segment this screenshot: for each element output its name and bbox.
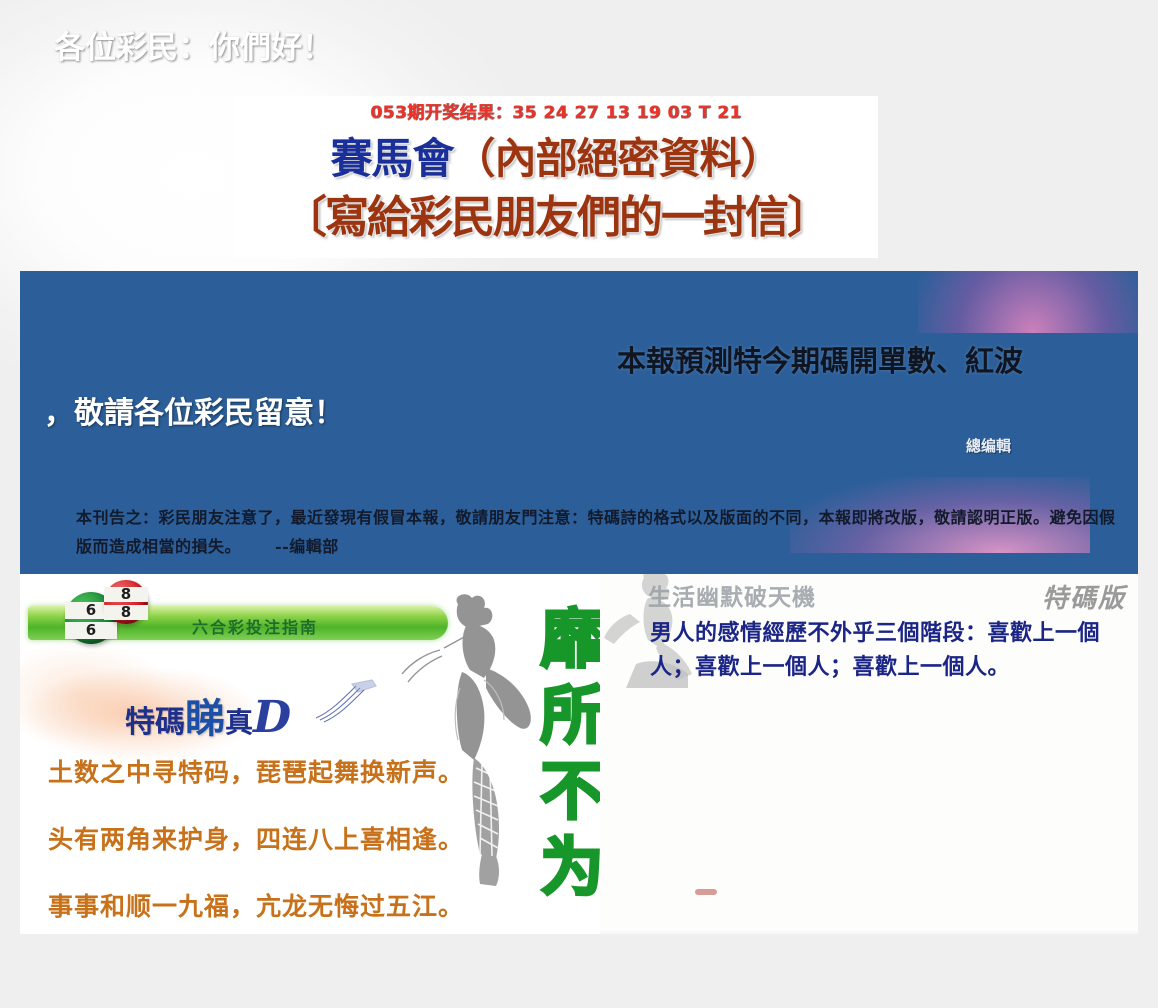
slogan-char-1: 靡 xyxy=(541,602,604,678)
brand-part-4: D xyxy=(253,692,291,743)
letter-forecast-line: 本報預測特今期碼開單數、紅波 xyxy=(617,338,1023,380)
lottery-result-strip: 053期开奖结果：35 24 27 13 19 03 T 21 xyxy=(234,96,878,124)
poem-line-2: 头有两角来护身，四连八上喜相逢。 xyxy=(48,820,464,856)
ball-band-bottom: 8 xyxy=(104,605,148,620)
masthead-line-2: 〔寫給彩民朋友們的一封信〕 xyxy=(234,188,878,248)
ink-smudge xyxy=(695,889,717,895)
guide-brand-title: 特碼睇真D xyxy=(125,686,291,744)
vertical-slogan: 靡 所 不 为 xyxy=(536,602,608,906)
masthead-banner: 賽馬會（內部絕密資料） 〔寫給彩民朋友們的一封信〕 xyxy=(234,124,878,258)
lottery-ball-red: 8 8 xyxy=(104,580,148,624)
letter-attention-line: ，敬請各位彩民留意！ xyxy=(44,388,344,432)
slogan-char-3: 不 xyxy=(541,754,604,830)
lottery-ball-green-number-bottom: 6 xyxy=(86,623,96,638)
lottery-ball-green-number-top: 6 xyxy=(86,603,96,618)
lottery-ball-red-number-top: 8 xyxy=(121,587,131,602)
slogan-char-4: 为 xyxy=(541,830,604,906)
humor-body-text: 男人的感情經歷不外乎三個階段：喜歡上一個人；喜歡上一個人；喜歡上一個人。 xyxy=(650,616,1100,684)
humor-panel: 生活幽默破天機 特碼版 男人的感情經歷不外乎三個階段：喜歡上一個人；喜歡上一個人… xyxy=(600,574,1138,934)
betting-guide-section: 六合彩投注指南 6 6 8 8 特碼睇真D xyxy=(20,574,600,934)
ball-band-bottom: 6 xyxy=(65,622,117,639)
brand-part-2: 睇 xyxy=(185,695,225,742)
masthead-line-1: 賽馬會（內部絕密資料） xyxy=(234,130,878,188)
guide-banner-label: 六合彩投注指南 xyxy=(192,614,318,638)
poem-line-1: 土数之中寻特码，琵琶起舞换新声。 xyxy=(48,753,464,789)
brand-part-1: 特碼 xyxy=(125,705,185,740)
slogan-char-2: 所 xyxy=(541,678,604,754)
letter-signature: 總编輯 xyxy=(966,435,1011,456)
panel-bottom-fade xyxy=(600,929,1138,934)
letter-notice-department: --编輯部 xyxy=(275,537,339,556)
lottery-ball-red-number-bottom: 8 xyxy=(121,605,131,620)
page-canvas: 053期开奖结果：35 24 27 13 19 03 T 21 賽馬會（內部絕密… xyxy=(0,0,1158,1008)
letter-notice-text: 本刊告之：彩民朋友注意了，最近發現有假冒本報，敬請朋友門注意：特碼詩的格式以及版… xyxy=(76,508,1116,556)
brand-part-3: 真 xyxy=(225,706,253,739)
masthead-org-name: 賽馬會 xyxy=(330,134,453,183)
panel-glow-top-right xyxy=(918,271,1138,333)
edition-label: 特碼版 xyxy=(1042,578,1126,615)
lottery-result-text: 053期开奖结果：35 24 27 13 19 03 T 21 xyxy=(370,98,742,123)
masthead-subtitle: （內部絕密資料） xyxy=(454,134,782,183)
letter-greeting: 各位彩民：你們好！ xyxy=(54,22,333,67)
ball-band-top: 8 xyxy=(104,587,148,602)
letter-notice-block: 本刊告之：彩民朋友注意了，最近發現有假冒本報，敬請朋友門注意：特碼詩的格式以及版… xyxy=(76,503,1116,561)
poem-line-3: 事事和顺一九福，亢龙无悔过五江。 xyxy=(48,887,464,923)
humor-watermark-text: 生活幽默破天機 xyxy=(648,578,816,612)
